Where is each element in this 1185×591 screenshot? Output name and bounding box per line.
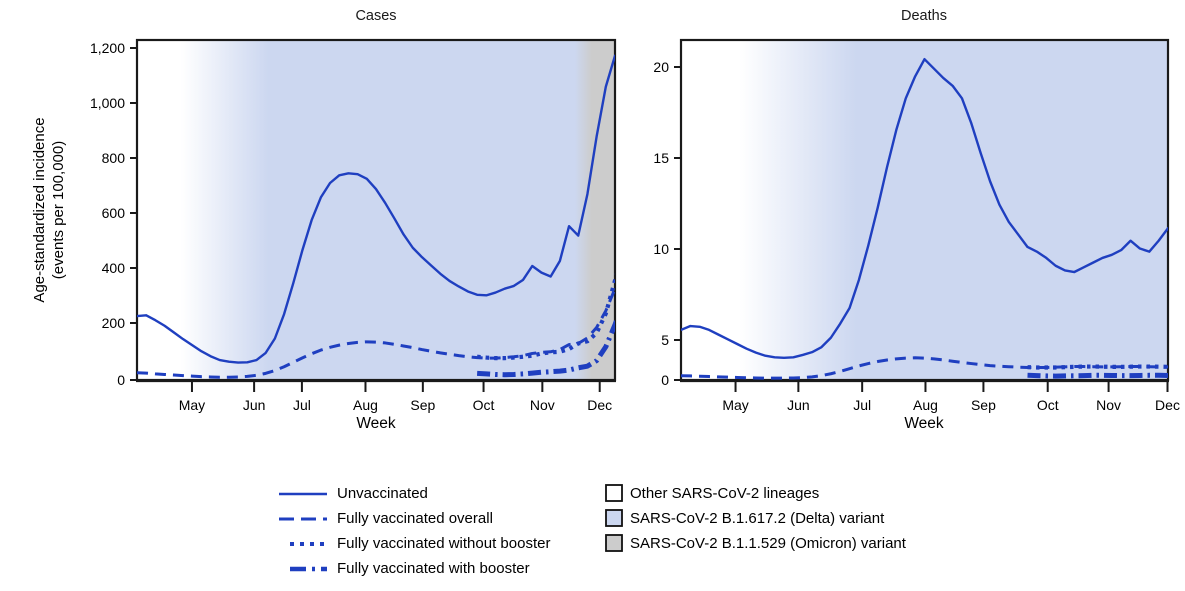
cases-xtick-label-dec: Dec [587,397,612,413]
deaths-xtick-label-dec: Dec [1155,397,1180,413]
cases-ytick-1200: 1,200 [90,40,125,56]
deaths-variant-band-delta [681,40,1168,380]
deaths-ytick-15: 15 [653,150,669,166]
cases-xtick-label-jun: Jun [243,397,266,413]
figure-container: Cases 1,200 1,000 800 600 400 200 [0,0,1185,591]
deaths-ytick-10: 10 [653,241,669,257]
cases-xtick-label-aug: Aug [353,397,378,413]
deaths-panel: Deaths 20 15 10 5 0 MayJunJulAugSepOctNo… [653,8,1180,432]
cases-x-axis-label: Week [356,415,396,432]
cases-xtick-label-sep: Sep [410,397,435,413]
deaths-xtick-label-may: May [722,397,748,413]
legend-label-other-lineages: Other SARS-CoV-2 lineages [630,485,819,502]
legend-label-fully-vaccinated-with-booster: Fully vaccinated with booster [337,560,530,577]
deaths-xtick-label-oct: Oct [1037,397,1059,413]
cases-ytick-0: 0 [117,372,125,388]
legend-label-fully-vaccinated-overall: Fully vaccinated overall [337,510,493,527]
legend-item-omicron-variant[interactable]: SARS-CoV-2 B.1.1.529 (Omicron) variant [606,535,907,552]
deaths-x-axis-label: Week [904,415,944,432]
cases-xtick-label-nov: Nov [530,397,555,413]
deaths-ytick-20: 20 [653,59,669,75]
cases-ytick-1000: 1,000 [90,95,125,111]
legend-label-delta-variant: SARS-CoV-2 B.1.617.2 (Delta) variant [630,510,885,527]
legend-swatch-other-lineages [606,485,622,501]
legend-label-unvaccinated: Unvaccinated [337,485,428,502]
covid-incidence-chart: Cases 1,200 1,000 800 600 400 200 [0,0,1185,591]
cases-xtick-label-jul: Jul [293,397,311,413]
legend-swatch-delta-variant [606,510,622,526]
deaths-xtick-label-aug: Aug [913,397,938,413]
cases-ytick-200: 200 [102,315,126,331]
cases-panel-title: Cases [355,8,396,24]
cases-ytick-800: 800 [102,150,126,166]
deaths-xtick-label-jul: Jul [853,397,871,413]
legend-item-other-lineages[interactable]: Other SARS-CoV-2 lineages [606,485,819,502]
cases-xtick-label-oct: Oct [473,397,495,413]
deaths-ytick-0: 0 [661,372,669,388]
deaths-xtick-label-sep: Sep [971,397,996,413]
cases-ytick-400: 400 [102,260,126,276]
legend-swatch-omicron-variant [606,535,622,551]
cases-xtick-label-may: May [179,397,205,413]
deaths-xtick-label-nov: Nov [1096,397,1121,413]
y-axis-label-line2: (events per 100,000) [50,141,67,279]
cases-panel: Cases 1,200 1,000 800 600 400 200 [90,8,633,432]
cases-ytick-600: 600 [102,205,126,221]
y-axis-label-line1: Age-standardized incidence [31,117,48,302]
legend-label-fully-vaccinated-without-booster: Fully vaccinated without booster [337,535,550,552]
cases-variant-band-delta [137,40,575,380]
deaths-ytick-5: 5 [661,332,669,348]
legend-label-omicron-variant: SARS-CoV-2 B.1.1.529 (Omicron) variant [630,535,907,552]
deaths-xtick-label-jun: Jun [787,397,810,413]
deaths-panel-title: Deaths [901,8,947,24]
legend-item-delta-variant[interactable]: SARS-CoV-2 B.1.617.2 (Delta) variant [606,510,885,527]
